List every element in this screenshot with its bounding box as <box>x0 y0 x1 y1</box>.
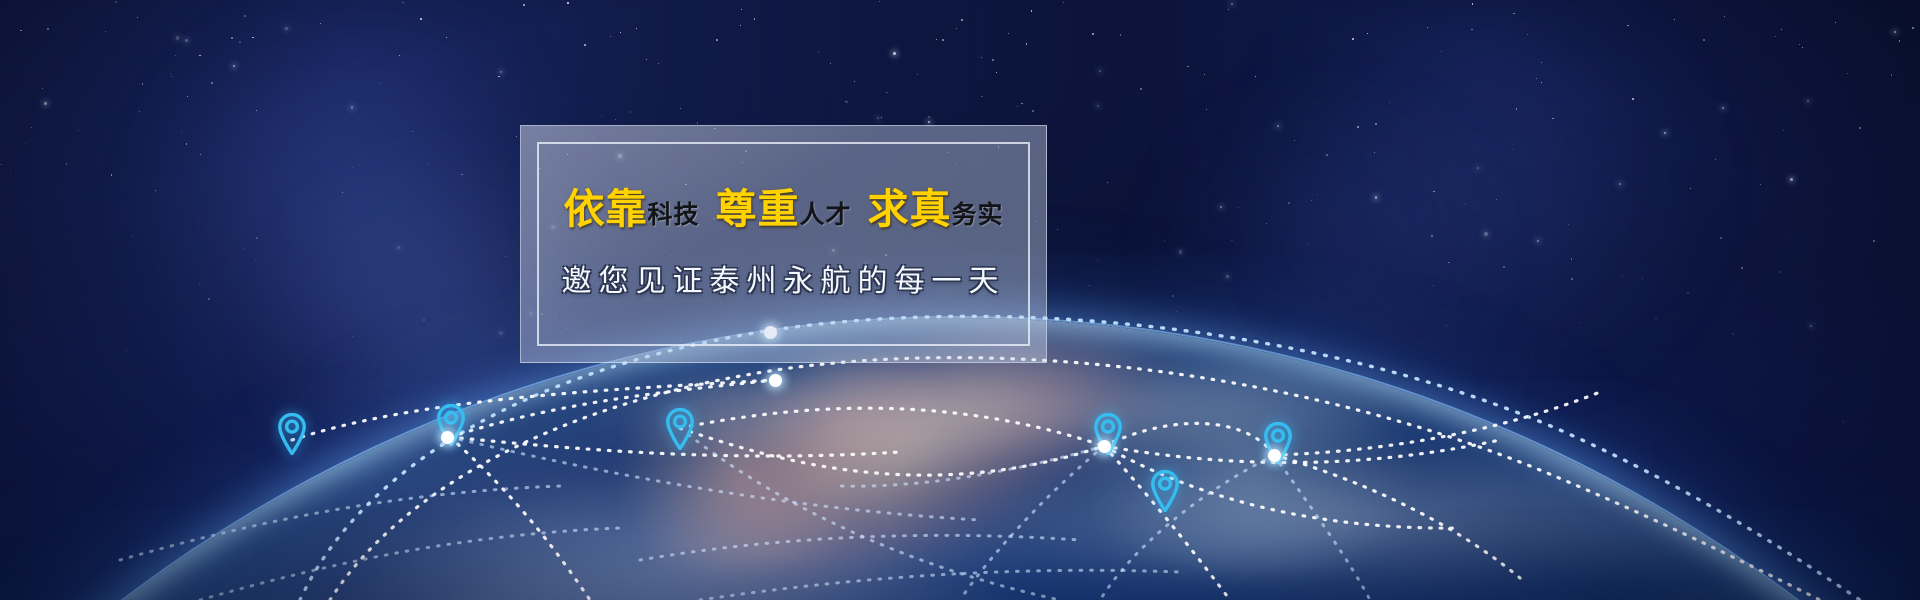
star <box>1326 154 1328 156</box>
hub-node-upper <box>769 374 782 387</box>
star <box>1433 191 1435 193</box>
star <box>412 131 413 132</box>
star <box>500 71 503 74</box>
star <box>1724 16 1725 17</box>
star <box>917 74 918 75</box>
star <box>1891 74 1893 76</box>
star <box>1722 107 1724 109</box>
star <box>1802 47 1803 48</box>
star <box>1204 74 1205 75</box>
star <box>256 237 258 239</box>
star <box>186 143 188 145</box>
star <box>256 110 257 111</box>
star <box>1008 33 1009 34</box>
slogan-subtitle: 邀您见证泰州永航的每一天 <box>562 256 1006 300</box>
star <box>516 136 517 137</box>
star <box>523 4 525 6</box>
star <box>1307 243 1308 244</box>
star <box>830 63 832 65</box>
star <box>620 32 621 33</box>
star <box>1374 152 1375 153</box>
star <box>680 108 681 109</box>
star <box>1632 98 1634 100</box>
star <box>505 256 506 257</box>
star <box>176 36 180 40</box>
slogan-headline: 依靠科技尊重人才求真务实 <box>563 189 1003 230</box>
star <box>458 310 459 311</box>
star <box>1288 202 1290 204</box>
landmass <box>730 348 970 498</box>
star <box>1571 258 1573 260</box>
star <box>111 174 113 176</box>
star <box>1220 206 1222 208</box>
star <box>20 30 22 32</box>
star <box>1017 106 1018 107</box>
hero-banner: .route{fill:none;stroke:#ffffff;stroke-l… <box>0 0 1920 600</box>
star <box>1715 159 1716 160</box>
star <box>285 27 287 29</box>
star <box>610 36 611 37</box>
headline-segment-small: 人才 <box>799 202 851 227</box>
hub-node-north-america <box>441 431 454 444</box>
star <box>636 28 637 29</box>
star <box>1484 232 1488 236</box>
star <box>1790 178 1793 181</box>
star <box>1063 2 1064 3</box>
star <box>1899 40 1900 41</box>
star <box>399 55 400 56</box>
star <box>47 28 49 30</box>
star <box>1431 235 1433 237</box>
star <box>615 119 616 120</box>
star <box>420 18 422 20</box>
star <box>1238 207 1239 208</box>
star <box>1516 108 1518 110</box>
star <box>1255 76 1257 78</box>
star <box>44 102 47 105</box>
star <box>1092 33 1094 35</box>
star <box>1741 267 1743 269</box>
star <box>697 122 698 123</box>
pin-far-east[interactable] <box>1150 470 1180 512</box>
star <box>1619 183 1621 185</box>
headline-segment-small: 科技 <box>647 202 699 227</box>
star <box>928 121 930 123</box>
star <box>1441 51 1442 52</box>
star <box>380 83 381 84</box>
star <box>115 1 117 3</box>
star <box>352 336 353 337</box>
star <box>132 236 133 237</box>
star <box>125 350 127 352</box>
star <box>25 143 26 144</box>
star <box>1571 278 1573 280</box>
star <box>567 2 569 4</box>
star <box>1226 275 1229 278</box>
star <box>658 63 659 64</box>
star <box>42 88 43 89</box>
star <box>342 192 343 193</box>
star <box>1228 9 1230 11</box>
star <box>1099 70 1101 72</box>
star <box>1536 78 1537 79</box>
star <box>741 9 742 10</box>
headline-segment-big: 依靠 <box>563 189 647 230</box>
star <box>1206 109 1207 110</box>
star <box>1552 118 1553 119</box>
star <box>630 111 632 113</box>
star <box>1781 29 1782 30</box>
star <box>1531 356 1532 357</box>
pin-west-atlantic[interactable] <box>277 413 307 455</box>
star <box>1026 43 1028 45</box>
star <box>137 17 138 18</box>
star <box>1176 311 1177 312</box>
star <box>1389 102 1390 103</box>
star <box>1433 285 1434 286</box>
star <box>1783 130 1784 131</box>
star <box>886 92 887 93</box>
star <box>936 39 937 40</box>
star <box>498 76 500 78</box>
star <box>1140 88 1142 90</box>
star <box>1912 27 1914 29</box>
star <box>740 25 741 26</box>
star <box>1537 240 1539 242</box>
star <box>1799 44 1801 46</box>
star <box>252 37 254 39</box>
star <box>66 268 67 269</box>
star <box>584 44 586 46</box>
star <box>199 283 200 284</box>
star <box>200 154 201 155</box>
star <box>1097 260 1098 261</box>
star <box>956 28 957 29</box>
star <box>336 282 338 284</box>
star <box>1810 325 1813 328</box>
hub-node-east-asia <box>1098 440 1111 453</box>
star <box>1894 31 1896 33</box>
star <box>1835 22 1836 23</box>
star <box>208 298 210 300</box>
star <box>185 39 188 42</box>
star <box>1277 125 1279 127</box>
star <box>1021 103 1023 105</box>
star <box>1541 82 1542 83</box>
star <box>1568 224 1569 225</box>
star <box>1664 132 1666 134</box>
star <box>231 37 233 39</box>
star <box>10 171 11 172</box>
star <box>942 39 944 41</box>
slogan-text-group: 依靠科技尊重人才求真务实 邀您见证泰州永航的每一天 <box>521 126 1046 362</box>
star <box>893 52 896 55</box>
star <box>181 131 182 132</box>
star <box>1317 194 1318 195</box>
star <box>1541 62 1542 63</box>
star <box>461 174 462 175</box>
star <box>1179 250 1183 254</box>
star <box>66 163 67 164</box>
star <box>1266 223 1267 224</box>
landmass <box>590 378 890 568</box>
star <box>1859 127 1861 129</box>
star <box>1472 3 1474 5</box>
star <box>1655 318 1656 319</box>
star <box>351 106 353 108</box>
star <box>1231 3 1233 5</box>
star <box>1120 34 1121 35</box>
star <box>402 2 404 4</box>
star <box>1512 149 1513 150</box>
star <box>1687 292 1689 294</box>
star <box>846 101 848 103</box>
star <box>961 19 963 21</box>
star <box>1275 338 1276 339</box>
star <box>1465 203 1466 204</box>
star <box>499 331 503 335</box>
star <box>1032 110 1034 112</box>
star <box>1786 236 1787 237</box>
star <box>105 31 106 32</box>
star <box>1367 33 1368 34</box>
cloud-band <box>830 438 1830 598</box>
star <box>881 117 883 119</box>
star <box>1446 325 1447 326</box>
star <box>1496 199 1497 200</box>
star <box>1690 188 1691 189</box>
star <box>1527 34 1528 35</box>
star <box>879 1 881 3</box>
star <box>556 365 557 366</box>
star <box>1780 271 1782 273</box>
star <box>1187 66 1189 68</box>
star <box>1031 10 1032 11</box>
star <box>1294 140 1295 141</box>
star <box>397 246 401 250</box>
star <box>996 72 997 73</box>
star <box>255 260 256 261</box>
star <box>1760 184 1761 185</box>
star <box>170 73 171 74</box>
cloud-band <box>560 344 1460 474</box>
pin-mid-ocean[interactable] <box>665 408 695 450</box>
star <box>1642 278 1643 279</box>
star <box>1107 182 1108 183</box>
star <box>175 55 176 56</box>
star <box>211 82 213 84</box>
star <box>1842 421 1844 423</box>
star <box>754 18 755 19</box>
star <box>243 248 244 249</box>
star <box>877 117 879 119</box>
star <box>992 59 994 61</box>
star <box>233 65 235 67</box>
star <box>1097 105 1099 107</box>
star <box>845 101 846 102</box>
star <box>1513 13 1515 15</box>
star <box>1580 322 1581 323</box>
star <box>1352 38 1354 40</box>
hub-node-pacific <box>1268 449 1281 462</box>
star <box>1296 351 1298 353</box>
star <box>31 127 32 128</box>
star <box>981 96 983 98</box>
star <box>155 190 156 191</box>
landmass <box>1040 364 1460 574</box>
headline-segment-big: 尊重 <box>715 189 799 230</box>
star <box>601 116 602 117</box>
star <box>1622 275 1623 276</box>
star <box>928 116 930 118</box>
star <box>1357 126 1359 128</box>
star <box>1503 266 1505 268</box>
star <box>239 41 241 43</box>
star <box>352 167 354 169</box>
star <box>981 57 983 59</box>
star <box>1172 295 1174 297</box>
star <box>187 96 189 98</box>
star <box>78 130 79 131</box>
star <box>1873 240 1875 242</box>
star <box>1775 36 1776 37</box>
star <box>1164 240 1166 242</box>
star <box>1 164 2 165</box>
star <box>1627 25 1629 27</box>
star <box>716 39 718 41</box>
nebula-glow <box>1220 20 1740 360</box>
star <box>1089 285 1090 286</box>
star <box>1311 200 1312 201</box>
star <box>1471 29 1473 31</box>
headline-segment-big: 求真 <box>868 189 952 230</box>
star <box>1448 262 1449 263</box>
star <box>1375 196 1377 198</box>
star <box>1732 333 1734 335</box>
star <box>646 59 647 60</box>
star <box>1674 19 1675 20</box>
star <box>171 76 172 77</box>
star <box>1847 73 1848 74</box>
star <box>139 111 140 112</box>
star <box>1427 27 1428 28</box>
star <box>1703 39 1705 41</box>
star <box>1375 123 1377 125</box>
star <box>428 164 429 165</box>
star <box>818 52 819 53</box>
star <box>446 37 447 38</box>
star <box>1477 167 1479 169</box>
star <box>142 83 144 85</box>
star <box>1231 240 1233 242</box>
slogan-panel: 依靠科技尊重人才求真务实 邀您见证泰州永航的每一天 <box>520 125 1047 363</box>
star <box>1807 100 1809 102</box>
star <box>1720 237 1722 239</box>
star <box>244 15 246 17</box>
star <box>199 55 200 56</box>
star <box>320 23 321 24</box>
cloud-band <box>340 468 1040 600</box>
star <box>1057 229 1058 230</box>
star <box>854 81 855 82</box>
headline-segment-small: 务实 <box>952 202 1004 227</box>
star <box>70 374 71 375</box>
star <box>423 319 425 321</box>
